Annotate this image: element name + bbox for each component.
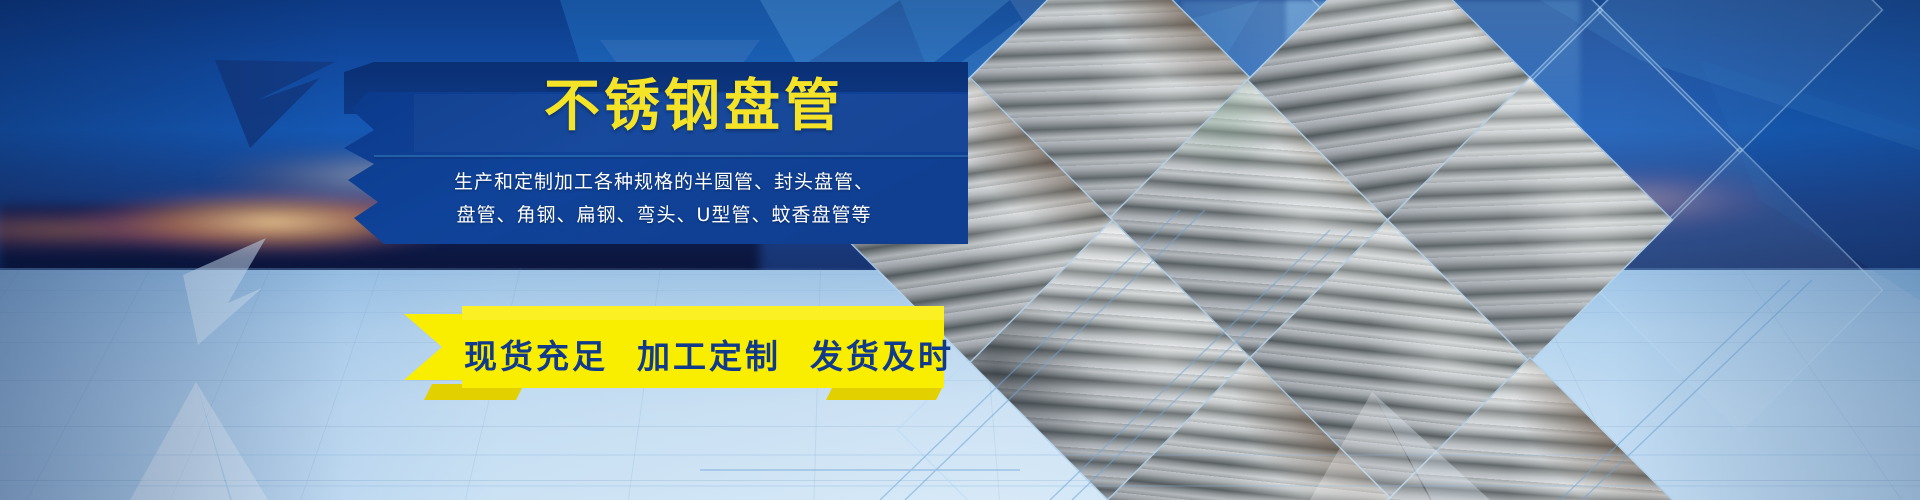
headline-panel: 不锈钢盘管 生产和定制加工各种规格的半圆管、封头盘管、 盘管、角钢、扁钢、弯头、…	[344, 52, 968, 254]
banner-subtitle-line-1: 生产和定制加工各种规格的半圆管、封头盘管、	[384, 167, 944, 194]
banner-title: 不锈钢盘管	[444, 78, 944, 137]
features-ribbon: 现货充足 加工定制 发货及时	[404, 306, 964, 402]
banner-subtitle-line-2: 盘管、角钢、扁钢、弯头、U型管、蚊香盘管等	[384, 200, 944, 227]
hero-banner: 不锈钢盘管 生产和定制加工各种规格的半圆管、封头盘管、 盘管、角钢、扁钢、弯头、…	[0, 0, 1920, 500]
features-ribbon-text: 现货充足 加工定制 发货及时	[464, 330, 954, 378]
